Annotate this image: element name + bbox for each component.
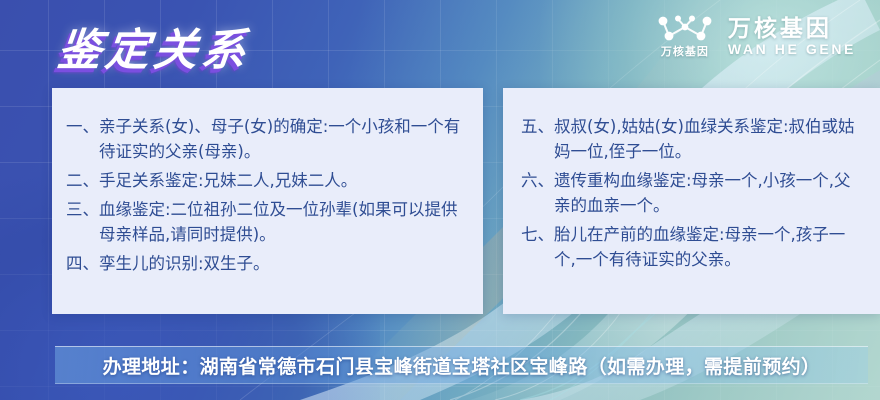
list-item-text: 亲子关系(女)、母子(女)的确定:一个小孩和一个有待证实的父亲(母亲)。 xyxy=(99,114,465,164)
card-right: 五、叔叔(女),姑姑(女)血绿关系鉴定:叔伯或姑妈一位,侄子一位。六、遗传重构血… xyxy=(503,88,880,314)
address-bar: 办理地址：湖南省常德市石门县宝峰街道宝塔社区宝峰路（如需办理，需提前预约） xyxy=(55,346,868,384)
relationship-list-right: 五、叔叔(女),姑姑(女)血绿关系鉴定:叔伯或姑妈一位,侄子一位。六、遗传重构血… xyxy=(521,114,866,276)
list-item-number: 一、 xyxy=(66,114,99,139)
list-item: 五、叔叔(女),姑姑(女)血绿关系鉴定:叔伯或姑妈一位,侄子一位。 xyxy=(521,114,866,164)
list-item: 三、血缘鉴定:二位祖孙二位及一位孙辈(如果可以提供母亲样品,请同时提供)。 xyxy=(66,197,465,247)
relationship-list-left: 一、亲子关系(女)、母子(女)的确定:一个小孩和一个有待证实的父亲(母亲)。二、… xyxy=(66,114,465,280)
list-item-text: 手足关系鉴定:兄妹二人,兄妹二人。 xyxy=(99,168,465,193)
brand-mark: 万核基因 xyxy=(656,14,714,58)
poster-root: 鉴定关系 xyxy=(0,0,880,400)
list-item-number: 二、 xyxy=(66,168,99,193)
address-text: 办理地址：湖南省常德市石门县宝峰街道宝塔社区宝峰路（如需办理，需提前预约） xyxy=(103,352,821,379)
list-item-text: 叔叔(女),姑姑(女)血绿关系鉴定:叔伯或姑妈一位,侄子一位。 xyxy=(554,114,866,164)
list-item-number: 七、 xyxy=(521,222,554,247)
brand-name-cn: 万核基因 xyxy=(728,16,832,40)
list-item-text: 血缘鉴定:二位祖孙二位及一位孙辈(如果可以提供母亲样品,请同时提供)。 xyxy=(99,197,465,247)
list-item: 七、胎儿在产前的血缘鉴定:母亲一个,孩子一个,一个有待证实的父亲。 xyxy=(521,222,866,272)
list-item-number: 六、 xyxy=(521,168,554,193)
list-item: 四、孪生儿的识别:双生子。 xyxy=(66,251,465,276)
list-item: 一、亲子关系(女)、母子(女)的确定:一个小孩和一个有待证实的父亲(母亲)。 xyxy=(66,114,465,164)
page-title: 鉴定关系 xyxy=(55,14,254,78)
list-item: 六、遗传重构血缘鉴定:母亲一个,小孩一个,父亲的血亲一个。 xyxy=(521,168,866,218)
brand-wordmark: 万核基因 WAN HE GENE xyxy=(728,16,856,57)
card-left: 一、亲子关系(女)、母子(女)的确定:一个小孩和一个有待证实的父亲(母亲)。二、… xyxy=(52,88,483,314)
brand-mark-label: 万核基因 xyxy=(661,47,709,58)
list-item-number: 四、 xyxy=(66,251,99,276)
list-item-text: 遗传重构血缘鉴定:母亲一个,小孩一个,父亲的血亲一个。 xyxy=(554,168,866,218)
list-item-number: 五、 xyxy=(521,114,554,139)
list-item-number: 三、 xyxy=(66,197,99,222)
list-item-text: 胎儿在产前的血缘鉴定:母亲一个,孩子一个,一个有待证实的父亲。 xyxy=(554,222,866,272)
poster-header: 鉴定关系 xyxy=(0,0,880,86)
list-item: 二、手足关系鉴定:兄妹二人,兄妹二人。 xyxy=(66,168,465,193)
list-item-text: 孪生儿的识别:双生子。 xyxy=(99,251,465,276)
brand-name-en: WAN HE GENE xyxy=(728,42,856,57)
brand-logo: 万核基因 万核基因 WAN HE GENE xyxy=(656,14,856,58)
molecule-network-icon xyxy=(656,14,714,44)
content-cards: 一、亲子关系(女)、母子(女)的确定:一个小孩和一个有待证实的父亲(母亲)。二、… xyxy=(52,88,828,314)
